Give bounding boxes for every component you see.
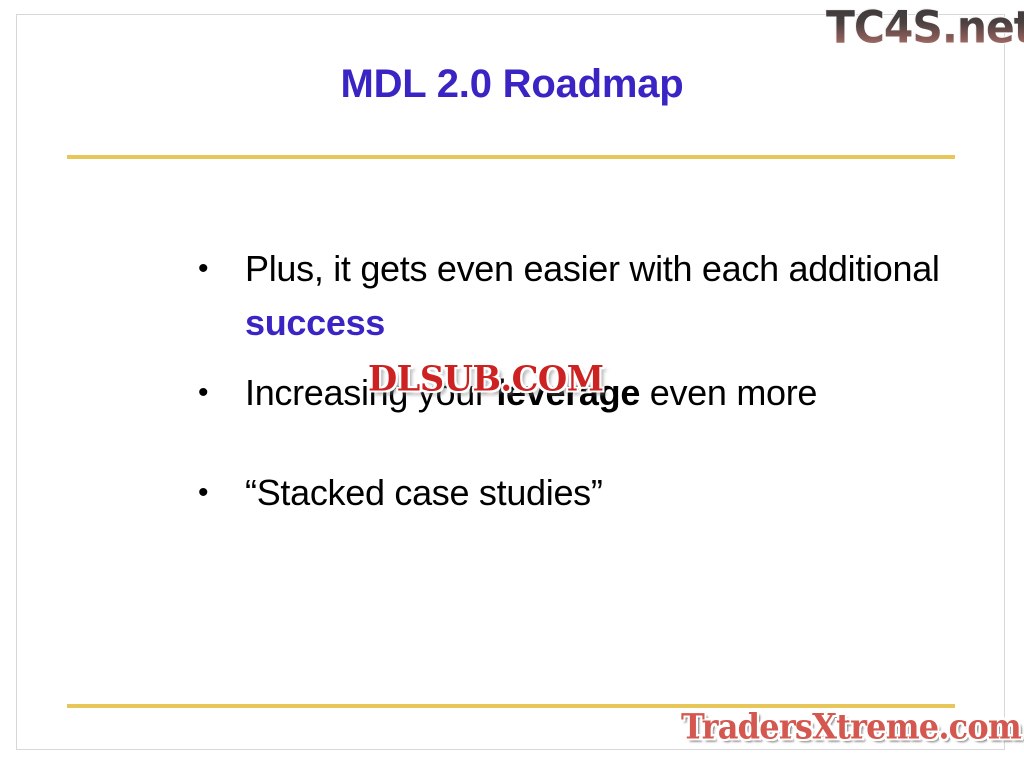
bullet-marker-icon: • <box>198 466 245 520</box>
list-item: • “Stacked case studies” <box>198 466 958 520</box>
list-item-text-part: Increasing your <box>245 372 496 413</box>
list-item-text: “Stacked case studies” <box>245 466 958 520</box>
divider-bottom <box>67 704 955 708</box>
bullet-marker-icon: • <box>198 366 245 420</box>
list-item-text: Increasing your leverage even more <box>245 366 958 420</box>
bullet-marker-icon: • <box>198 242 245 296</box>
list-item-highlight-success: success <box>245 302 385 343</box>
list-item-text-part: even more <box>640 372 817 413</box>
list-item: • Plus, it gets even easier with each ad… <box>198 242 958 350</box>
list-item-text-part: Plus, it gets even easier with each addi… <box>245 248 940 289</box>
bullet-spacer <box>198 420 958 466</box>
list-item-text: Plus, it gets even easier with each addi… <box>245 242 958 350</box>
list-item-highlight-leverage: leverage <box>496 372 640 413</box>
list-item: • Increasing your leverage even more <box>198 366 958 420</box>
bullet-list: • Plus, it gets even easier with each ad… <box>198 242 958 520</box>
divider-top <box>67 155 955 159</box>
page-title: MDL 2.0 Roadmap <box>0 62 1024 107</box>
bullet-spacer <box>198 350 958 366</box>
